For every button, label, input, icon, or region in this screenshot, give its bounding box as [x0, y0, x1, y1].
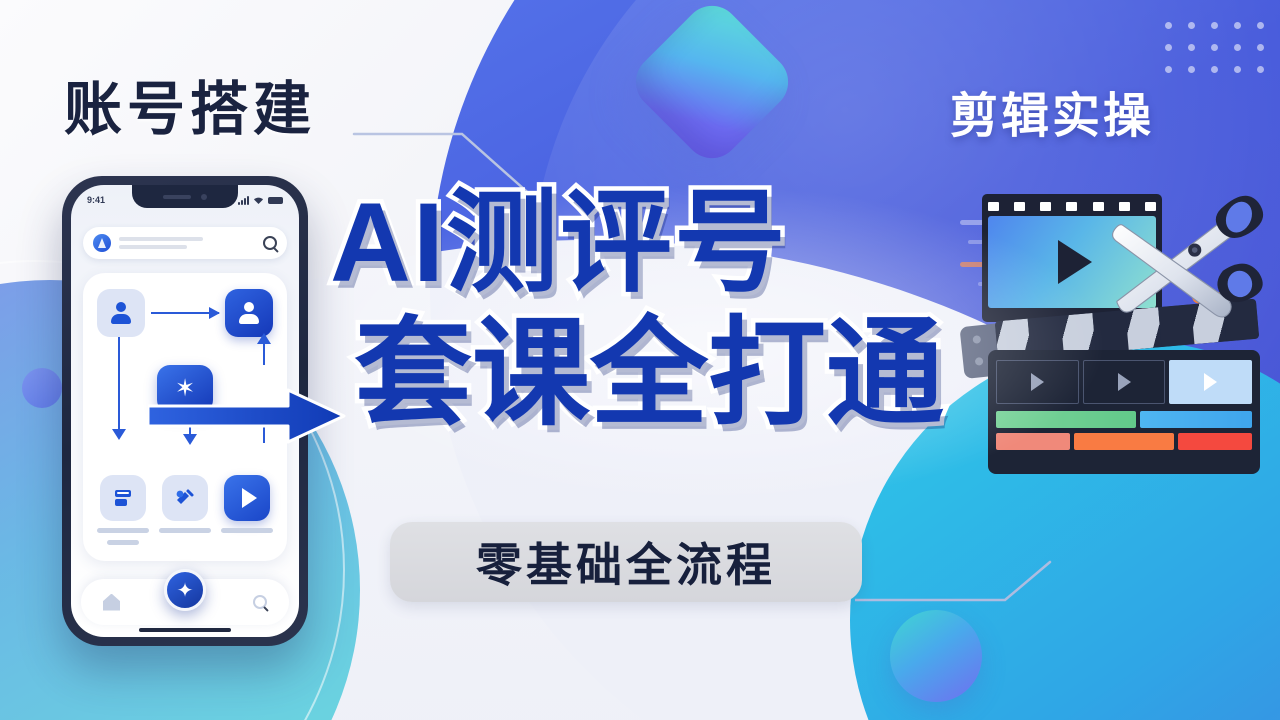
timeline-frame — [996, 360, 1079, 404]
sparkle-add-icon[interactable]: ✦ — [164, 569, 206, 611]
timeline-frames — [996, 360, 1252, 404]
person-icon[interactable] — [97, 289, 145, 337]
play-icon[interactable] — [224, 475, 270, 521]
flow-arrow-down-left — [112, 429, 126, 440]
small-dot-icon — [22, 368, 62, 408]
search-icon[interactable] — [253, 595, 267, 609]
flow-cell-play[interactable] — [221, 475, 273, 545]
flow-cell-document[interactable] — [97, 475, 149, 545]
scissors-icon — [1110, 176, 1270, 326]
search-icon[interactable] — [263, 236, 277, 250]
headline-line-1: AI测评号 — [330, 186, 944, 300]
connector-line-icon-2 — [855, 560, 1095, 650]
clapperboard-icon — [962, 304, 1262, 480]
dot-grid-icon — [1165, 22, 1280, 88]
big-arrow-icon — [148, 388, 348, 444]
search-placeholder-lines — [119, 237, 255, 249]
timeline-panel — [988, 350, 1260, 474]
home-icon[interactable] — [103, 594, 120, 611]
caption-line — [159, 528, 211, 533]
status-icon-group — [238, 196, 283, 205]
headline-line-2: 套课全打通 — [354, 314, 944, 434]
avatar-icon — [93, 234, 111, 252]
search-input[interactable] — [83, 227, 287, 259]
edit-icon[interactable] — [162, 475, 208, 521]
poster-canvas: 账号搭建 剪辑实操 AI测评号 套课全打通 零基础全流程 9:41 — [0, 0, 1280, 720]
signal-bars-icon — [238, 196, 249, 205]
caption-line — [221, 528, 273, 533]
document-icon[interactable] — [100, 475, 146, 521]
battery-icon — [268, 197, 283, 204]
flow-line-down-left — [118, 399, 120, 429]
wifi-icon — [253, 196, 264, 205]
flow-row-top — [97, 289, 273, 337]
tag-editing-practice: 剪辑实操 — [950, 76, 1154, 146]
flow-cell-edit[interactable] — [159, 475, 211, 545]
status-bar: 9:41 — [71, 191, 299, 209]
flow-arrow-right — [151, 312, 219, 314]
tag-account-building: 账号搭建 — [64, 62, 316, 146]
video-editing-art — [962, 176, 1272, 516]
audio-track — [996, 433, 1252, 450]
subtitle-text: 零基础全流程 — [476, 529, 776, 595]
timeline-frame — [1083, 360, 1166, 404]
subtitle-pill: 零基础全流程 — [390, 522, 862, 602]
flow-arrow-up — [257, 333, 271, 344]
caption-line — [97, 528, 149, 533]
flow-row-bottom — [97, 475, 273, 545]
home-indicator — [139, 628, 231, 632]
person-target-icon[interactable] — [225, 289, 273, 337]
caption-line-short — [107, 540, 139, 545]
flow-line-left — [118, 337, 120, 399]
timeline-frame-selected — [1169, 360, 1252, 404]
video-track — [996, 411, 1252, 428]
headline-block: AI测评号 套课全打通 — [330, 186, 944, 435]
play-icon — [1058, 240, 1092, 284]
status-time: 9:41 — [87, 195, 105, 205]
